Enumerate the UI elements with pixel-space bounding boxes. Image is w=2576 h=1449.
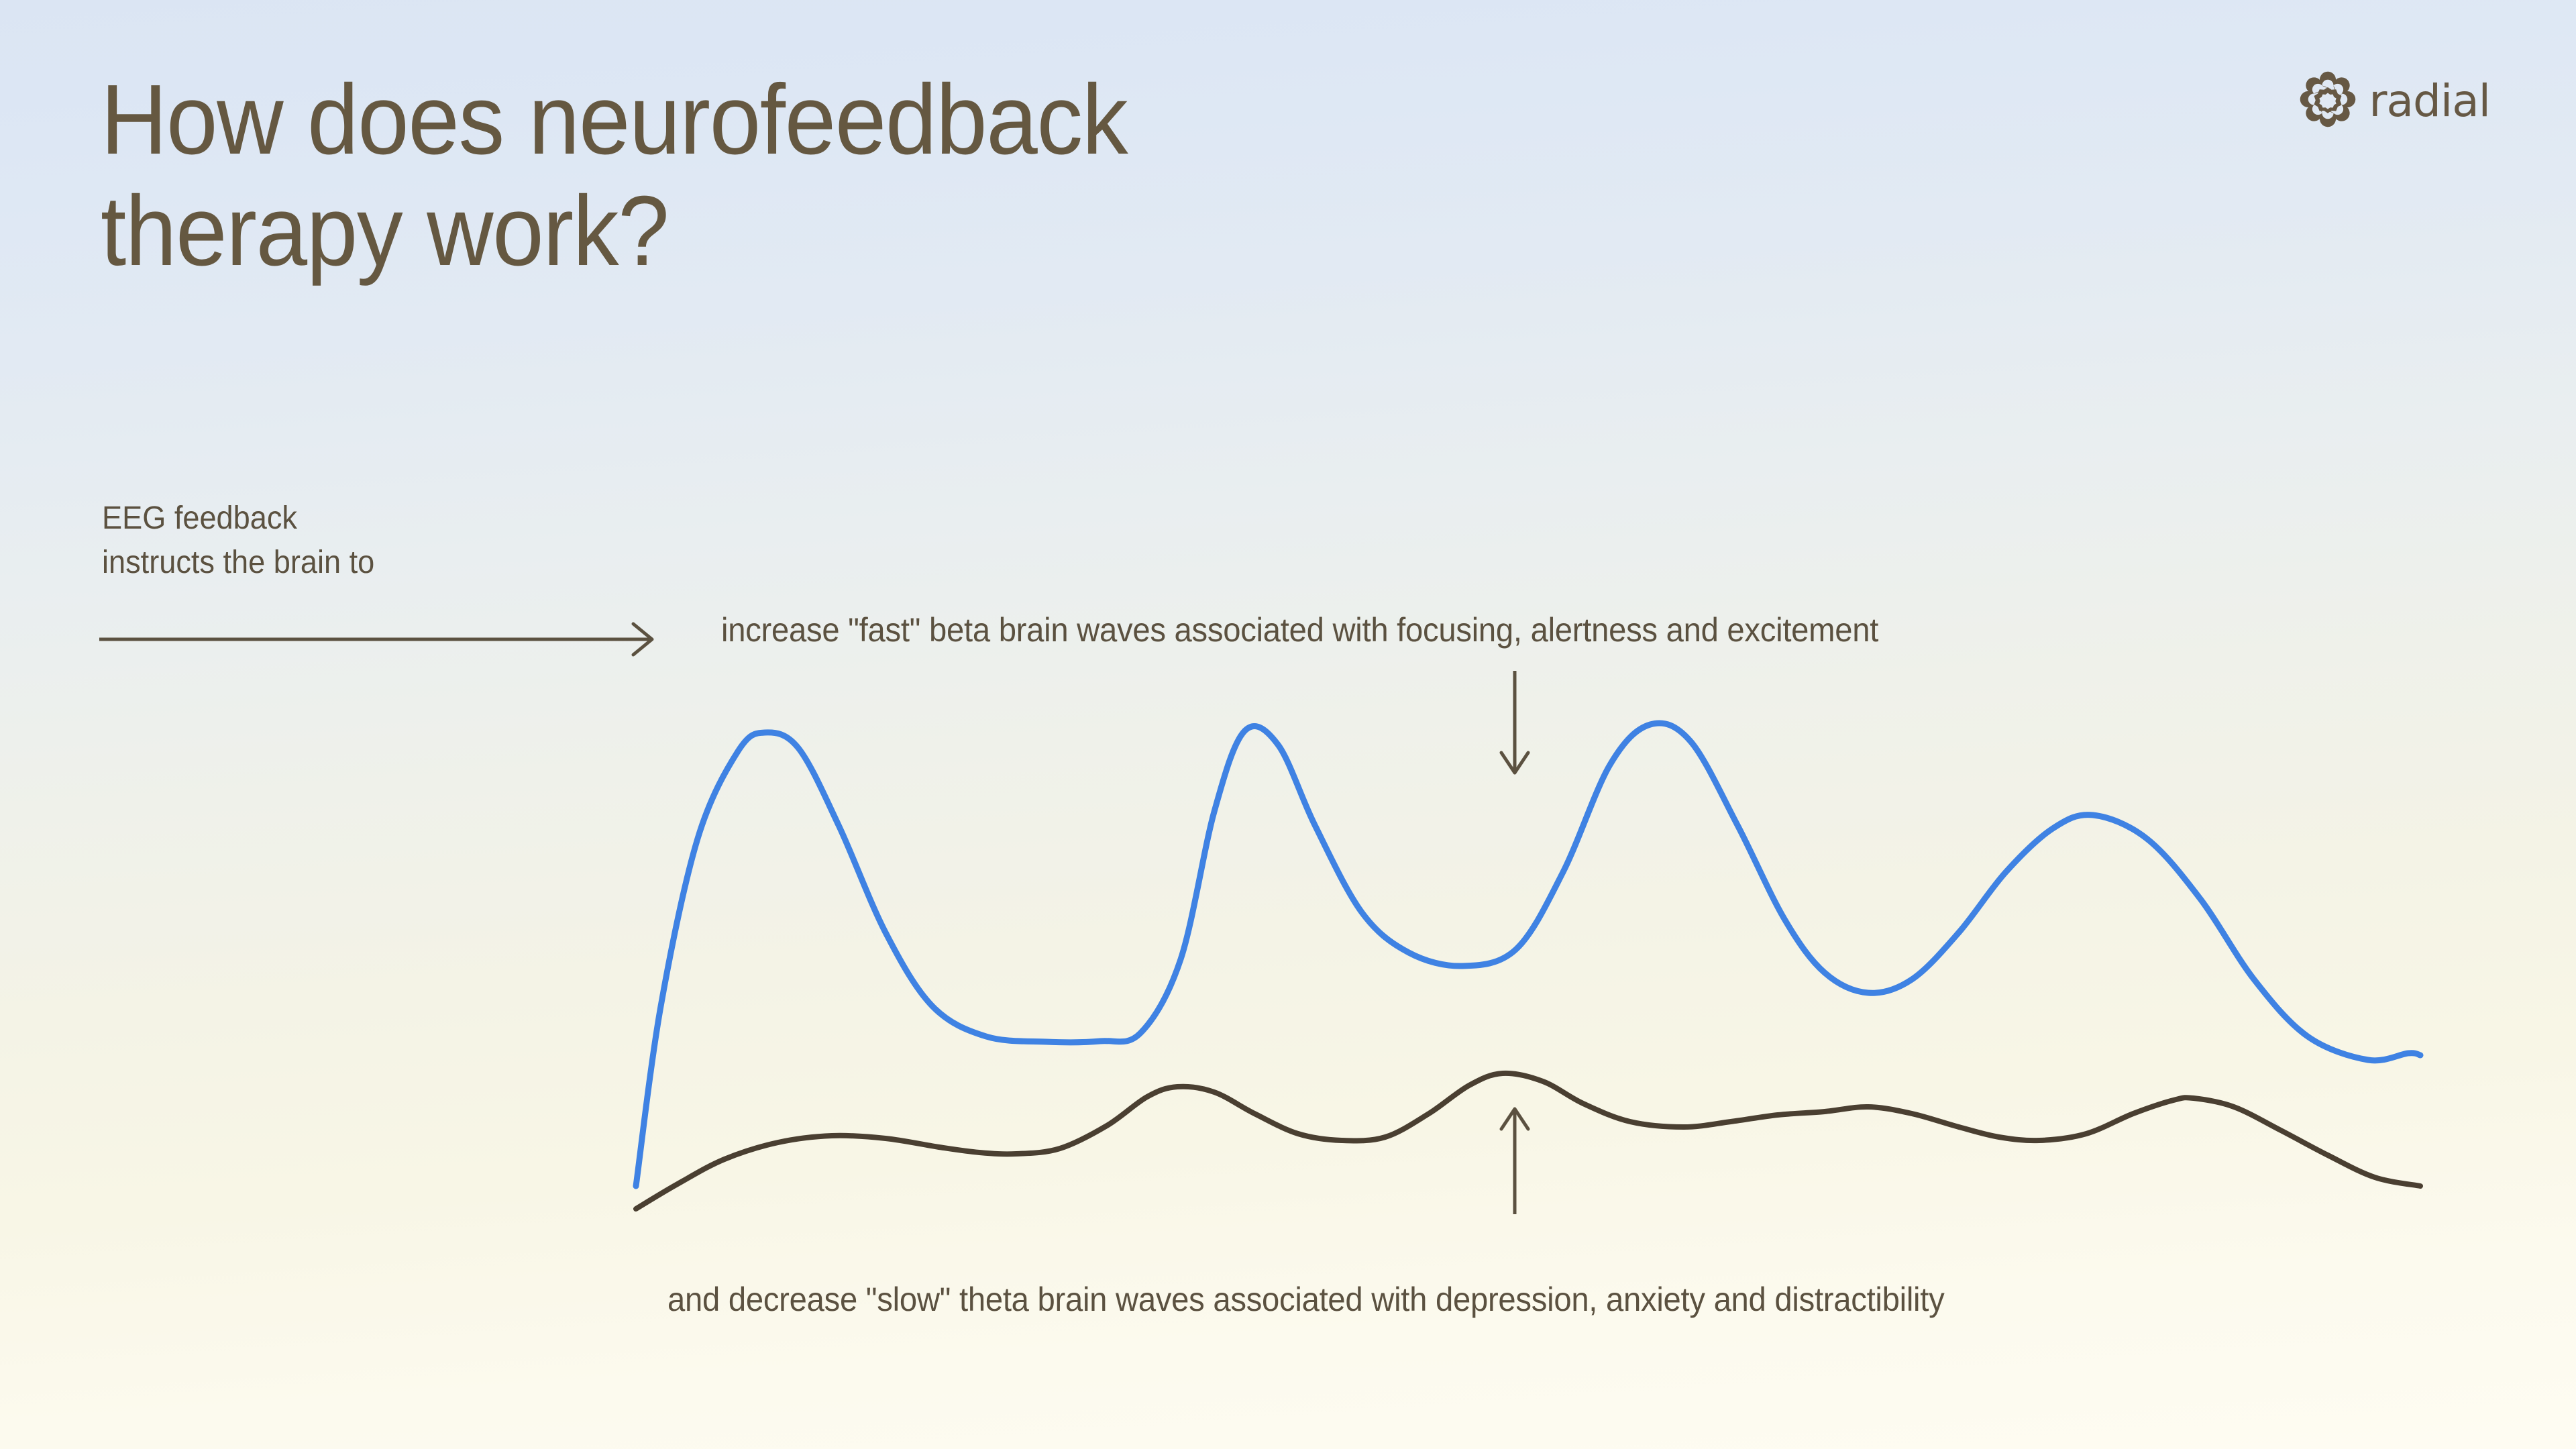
eeg-feedback-caption: EEG feedback instructs the brain to bbox=[102, 496, 374, 585]
theta-wave-annotation: and decrease "slow" theta brain waves as… bbox=[667, 1280, 1944, 1319]
brand-logo: radial bbox=[2299, 70, 2490, 128]
eeg-feedback-caption-line-1: EEG feedback bbox=[102, 496, 374, 541]
page-title: How does neurofeedback therapy work? bbox=[101, 64, 1723, 287]
eeg-feedback-caption-line-2: instructs the brain to bbox=[102, 541, 374, 585]
theta-wave-line bbox=[636, 1073, 2420, 1209]
beta-wave-annotation: increase "fast" beta brain waves associa… bbox=[721, 610, 1878, 649]
arrow-up-icon bbox=[1501, 1109, 1528, 1214]
radial-flower-logo-icon bbox=[2299, 70, 2357, 128]
page-title-line-2: therapy work? bbox=[101, 176, 1723, 287]
page-title-line-1: How does neurofeedback bbox=[101, 64, 1723, 176]
arrow-right-icon bbox=[99, 624, 652, 655]
arrow-down-icon bbox=[1501, 671, 1528, 773]
beta-wave-line bbox=[636, 723, 2420, 1186]
brand-wordmark: radial bbox=[2369, 79, 2490, 123]
